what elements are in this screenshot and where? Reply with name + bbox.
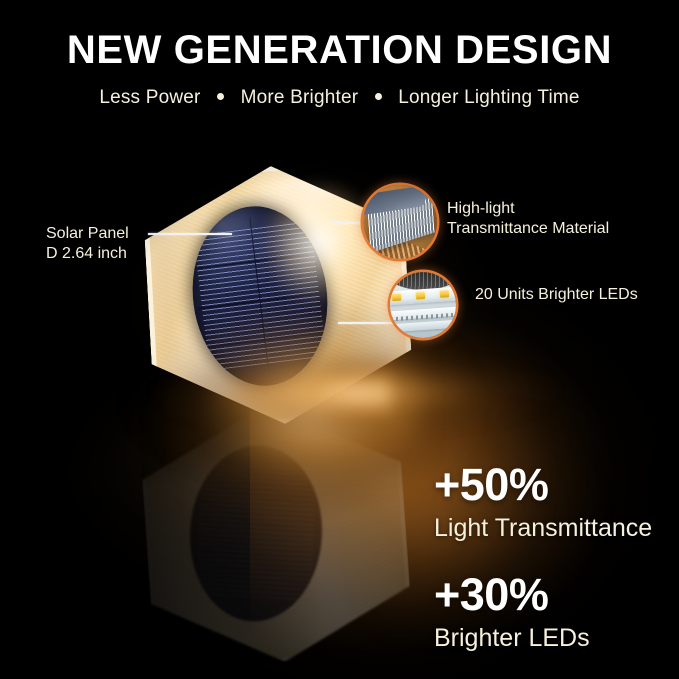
- callout-leds-line1: 20 Units Brighter LEDs: [475, 285, 638, 305]
- stat-brighter-leds: +30% Brighter LEDs: [434, 572, 590, 651]
- led-chip-icon: [440, 290, 449, 298]
- callout-leds: 20 Units Brighter LEDs: [475, 285, 638, 305]
- callout-solar-panel-line1: Solar Panel: [46, 224, 129, 244]
- reflection-panel-cells: [194, 464, 317, 604]
- callout-solar-panel: Solar Panel D 2.64 inch: [46, 224, 129, 264]
- leader-line-solar-panel: [148, 233, 232, 235]
- led-strip-board: [390, 319, 456, 332]
- stat-light-transmittance-value: +50%: [434, 462, 652, 507]
- page-title: NEW GENERATION DESIGN: [0, 30, 679, 70]
- subtitle-item-2: More Brighter: [241, 87, 359, 108]
- bullet-dot-icon: [375, 93, 382, 100]
- callout-material-line2: Transmittance Material: [447, 219, 609, 239]
- callout-solar-panel-line2: D 2.64 inch: [46, 244, 129, 264]
- led-strip-board: [390, 286, 456, 305]
- subtitle-item-3: Longer Lighting Time: [398, 87, 579, 108]
- page-subtitle: Less Power More Brighter Longer Lighting…: [0, 87, 679, 110]
- led-strip-closeup-icon: [390, 272, 456, 338]
- stat-light-transmittance-label: Light Transmittance: [434, 516, 652, 541]
- subtitle-item-1: Less Power: [99, 87, 200, 108]
- led-chip-icon: [416, 292, 425, 300]
- callout-material: High-light Transmittance Material: [447, 199, 609, 239]
- bullet-dot-icon: [217, 93, 224, 100]
- stat-brighter-leds-value: +30%: [434, 572, 590, 617]
- stat-light-transmittance: +50% Light Transmittance: [434, 462, 652, 541]
- stat-brighter-leds-label: Brighter LEDs: [434, 626, 590, 651]
- material-closeup-icon: [363, 185, 437, 259]
- marketing-image-canvas: NEW GENERATION DESIGN Less Power More Br…: [0, 0, 679, 679]
- solar-panel: [183, 199, 338, 394]
- solar-panel-gloss: [183, 199, 338, 394]
- reflection-solar-panel: [185, 442, 326, 625]
- callout-material-line1: High-light: [447, 199, 609, 219]
- product-reflection: [137, 395, 414, 671]
- led-chip-icon: [392, 294, 401, 302]
